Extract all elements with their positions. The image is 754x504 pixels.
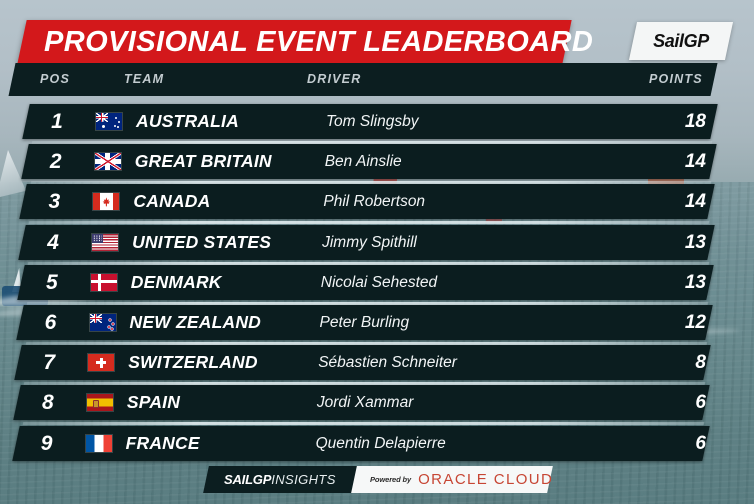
row-driver-name: Phil Robertson	[323, 184, 425, 219]
row-driver-name: Peter Burling	[320, 305, 410, 340]
row-position: 8	[31, 385, 65, 420]
leaderboard-row[interactable]: 7SWITZERLANDSébastien Schneiter8	[18, 345, 707, 380]
flag-great-britain	[95, 153, 121, 170]
leaderboard-row[interactable]: 2GREAT BRITAINBen Ainslie14	[25, 144, 713, 179]
row-position: 7	[32, 345, 66, 380]
flag-spain	[87, 394, 113, 411]
row-driver-name: Sébastien Schneiter	[318, 345, 457, 380]
flag-switzerland	[88, 354, 114, 371]
row-team-name: SWITZERLAND	[128, 345, 258, 380]
powered-by-label: Powered by	[370, 475, 411, 484]
row-points: 13	[646, 225, 706, 260]
row-driver-name: Jimmy Spithill	[322, 225, 417, 260]
sponsor-badge: Powered by ORACLE CLOUD	[351, 466, 553, 493]
row-driver-name: Ben Ainslie	[325, 144, 402, 179]
leaderboard-rows: 1AUSTRALIATom Slingsby182GREAT BRITAINBe…	[0, 0, 754, 504]
leaderboard-row[interactable]: 8SPAINJordi Xammar6	[17, 385, 706, 420]
row-points: 14	[646, 144, 706, 179]
row-driver-name: Nicolai Sehested	[321, 265, 437, 300]
row-team-name: AUSTRALIA	[136, 104, 239, 139]
row-position: 6	[34, 305, 68, 340]
row-position: 4	[36, 225, 70, 260]
row-position: 9	[30, 426, 64, 461]
row-points: 6	[646, 426, 706, 461]
row-team-name: NEW ZEALAND	[130, 305, 262, 340]
row-driver-name: Jordi Xammar	[317, 385, 413, 420]
row-driver-name: Quentin Delapierre	[316, 426, 446, 461]
row-points: 12	[646, 305, 706, 340]
row-points: 6	[646, 385, 706, 420]
row-points: 13	[646, 265, 706, 300]
flag-canada	[93, 193, 119, 210]
footer-bar: SAILGPINSIGHTS Powered by ORACLE CLOUD	[206, 466, 550, 493]
leaderboard-row[interactable]: 1AUSTRALIATom Slingsby18	[26, 104, 714, 139]
row-points: 8	[646, 345, 706, 380]
sailgp-insights-bold: SAILGP	[224, 472, 271, 487]
oracle-cloud-logo-text: ORACLE CLOUD	[418, 471, 553, 488]
row-position: 1	[40, 104, 74, 139]
row-team-name: GREAT BRITAIN	[135, 144, 272, 179]
flag-france	[86, 435, 112, 452]
sailgp-insights-light: INSIGHTS	[271, 472, 336, 487]
flag-australia	[96, 113, 122, 130]
row-driver-name: Tom Slingsby	[326, 104, 418, 139]
sailgp-insights-badge: SAILGPINSIGHTS	[203, 466, 361, 493]
leaderboard-row[interactable]: 4UNITED STATESJimmy Spithill13	[22, 225, 711, 260]
row-team-name: SPAIN	[127, 385, 180, 420]
flag-united-states	[92, 234, 118, 251]
leaderboard-row[interactable]: 3CANADAPhil Robertson14	[23, 184, 711, 219]
row-position: 5	[35, 265, 69, 300]
row-points: 18	[646, 104, 706, 139]
flag-new-zealand	[90, 314, 116, 331]
row-team-name: UNITED STATES	[132, 225, 271, 260]
row-position: 2	[39, 144, 73, 179]
leaderboard-row[interactable]: 9FRANCEQuentin Delapierre6	[16, 426, 706, 461]
leaderboard-row[interactable]: 5DENMARKNicolai Sehested13	[21, 265, 710, 300]
row-team-name: FRANCE	[126, 426, 200, 461]
row-team-name: CANADA	[133, 184, 210, 219]
row-points: 14	[646, 184, 706, 219]
row-team-name: DENMARK	[131, 265, 222, 300]
leaderboard-row[interactable]: 6NEW ZEALANDPeter Burling12	[20, 305, 709, 340]
flag-denmark	[91, 274, 117, 291]
row-position: 3	[37, 184, 71, 219]
